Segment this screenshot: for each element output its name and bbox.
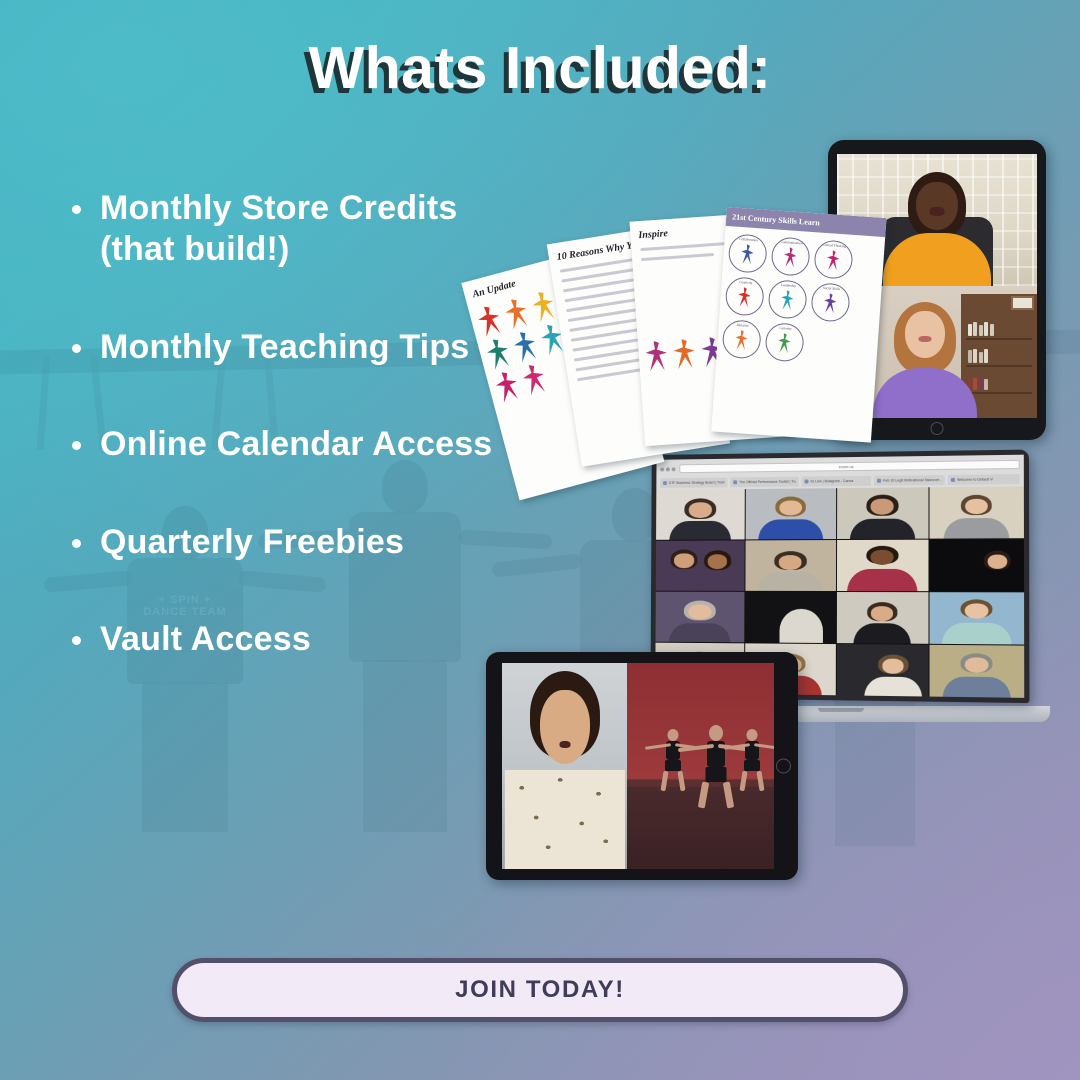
skill-circle: Collaboration	[727, 233, 768, 274]
window-controls[interactable]	[660, 467, 675, 471]
join-today-button[interactable]: JOIN TODAY!	[172, 958, 908, 1022]
list-item: Quarterly Freebies	[62, 522, 582, 563]
call-participant-tile	[745, 592, 835, 643]
dancer-icon	[783, 247, 798, 268]
skill-circle: Initiative	[721, 319, 762, 360]
call-participant-tile	[656, 489, 744, 540]
worksheet-21st-century-skills: 21st Century Skills Learn Collaboration …	[711, 207, 886, 443]
call-participant-tile	[930, 592, 1024, 644]
call-participant-tile	[837, 487, 929, 539]
promo-poster: + SPIN +DANCE TEAM Whats Included: Mo	[0, 0, 1080, 1080]
tablet-dance-video-device	[486, 652, 798, 880]
call-participant-tile	[930, 539, 1024, 591]
dancer-icon	[780, 290, 795, 311]
call-participant-tile	[836, 644, 928, 696]
call-participant-tile	[836, 540, 928, 592]
dancer-icon	[740, 244, 755, 265]
skill-circle: Leadership	[767, 279, 808, 320]
list-item: Monthly Store Credits (that build!)	[62, 188, 582, 271]
skill-label: Curiosity	[767, 325, 803, 332]
browser-tab[interactable]: Welcome to Default Vi	[948, 474, 1020, 485]
call-participant-tile	[656, 540, 745, 590]
call-participant-tile	[930, 486, 1024, 538]
tab-label: Welcome to Default Vi	[957, 477, 993, 481]
dancer-icon	[734, 330, 749, 351]
skill-circle: Critical Thinking	[813, 239, 854, 280]
skill-label: Communication	[773, 239, 809, 246]
skill-label: Creativity	[728, 279, 764, 286]
laptop-notch	[818, 708, 864, 712]
page-title: Whats Included:	[0, 34, 1080, 102]
dancer-icon	[823, 293, 838, 314]
home-button-icon[interactable]	[931, 422, 944, 435]
skill-circle: Curiosity	[764, 322, 805, 363]
call-participant-tile	[930, 645, 1024, 698]
call-participant-tile	[836, 592, 928, 644]
skill-circle: Creativity	[724, 276, 765, 317]
browser-tab[interactable]: The Official Performance Toolkit | Trell…	[730, 477, 798, 488]
skill-label: Social Skills	[813, 285, 849, 292]
skill-label: Collaboration	[731, 236, 767, 243]
call-participant-tile	[656, 592, 745, 643]
skill-label: Critical Thinking	[816, 242, 852, 249]
skill-label: Leadership	[770, 282, 806, 289]
skill-circle: Social Skills	[810, 282, 851, 323]
tab-label: DTF Business Strategy Board | Trello	[669, 480, 725, 485]
skill-circle: Communication	[770, 236, 811, 277]
browser-tab[interactable]: DTF Business Strategy Board | Trello	[660, 477, 727, 488]
browser-chrome: zoom.us DTF Business Strategy Board | Tr…	[656, 455, 1024, 490]
skill-label: Initiative	[725, 322, 761, 329]
skill-circle-group: Collaboration Communication Critical Thi…	[716, 226, 885, 375]
dancer-icon	[826, 250, 841, 271]
browser-tab[interactable]: Feb 10 Legit Motivational Takeover - H..…	[874, 475, 945, 486]
home-button-icon[interactable]	[776, 759, 791, 774]
instructor-video-pane	[502, 663, 627, 869]
dancer-figure	[730, 729, 774, 791]
tab-label: IG Live | Bolagram - Canva	[810, 479, 853, 483]
dancer-icon	[777, 333, 792, 354]
browser-tab[interactable]: IG Live | Bolagram - Canva	[802, 476, 872, 487]
tab-label: Feb 10 Legit Motivational Takeover - H..…	[883, 478, 942, 483]
call-participant-tile	[745, 488, 835, 539]
call-participant-tile	[745, 540, 835, 591]
studio-video-pane	[627, 663, 774, 869]
dancer-icon	[737, 287, 752, 308]
tab-label: The Official Performance Toolkit | Trell…	[739, 480, 796, 485]
tablet-video-screen	[502, 663, 774, 869]
